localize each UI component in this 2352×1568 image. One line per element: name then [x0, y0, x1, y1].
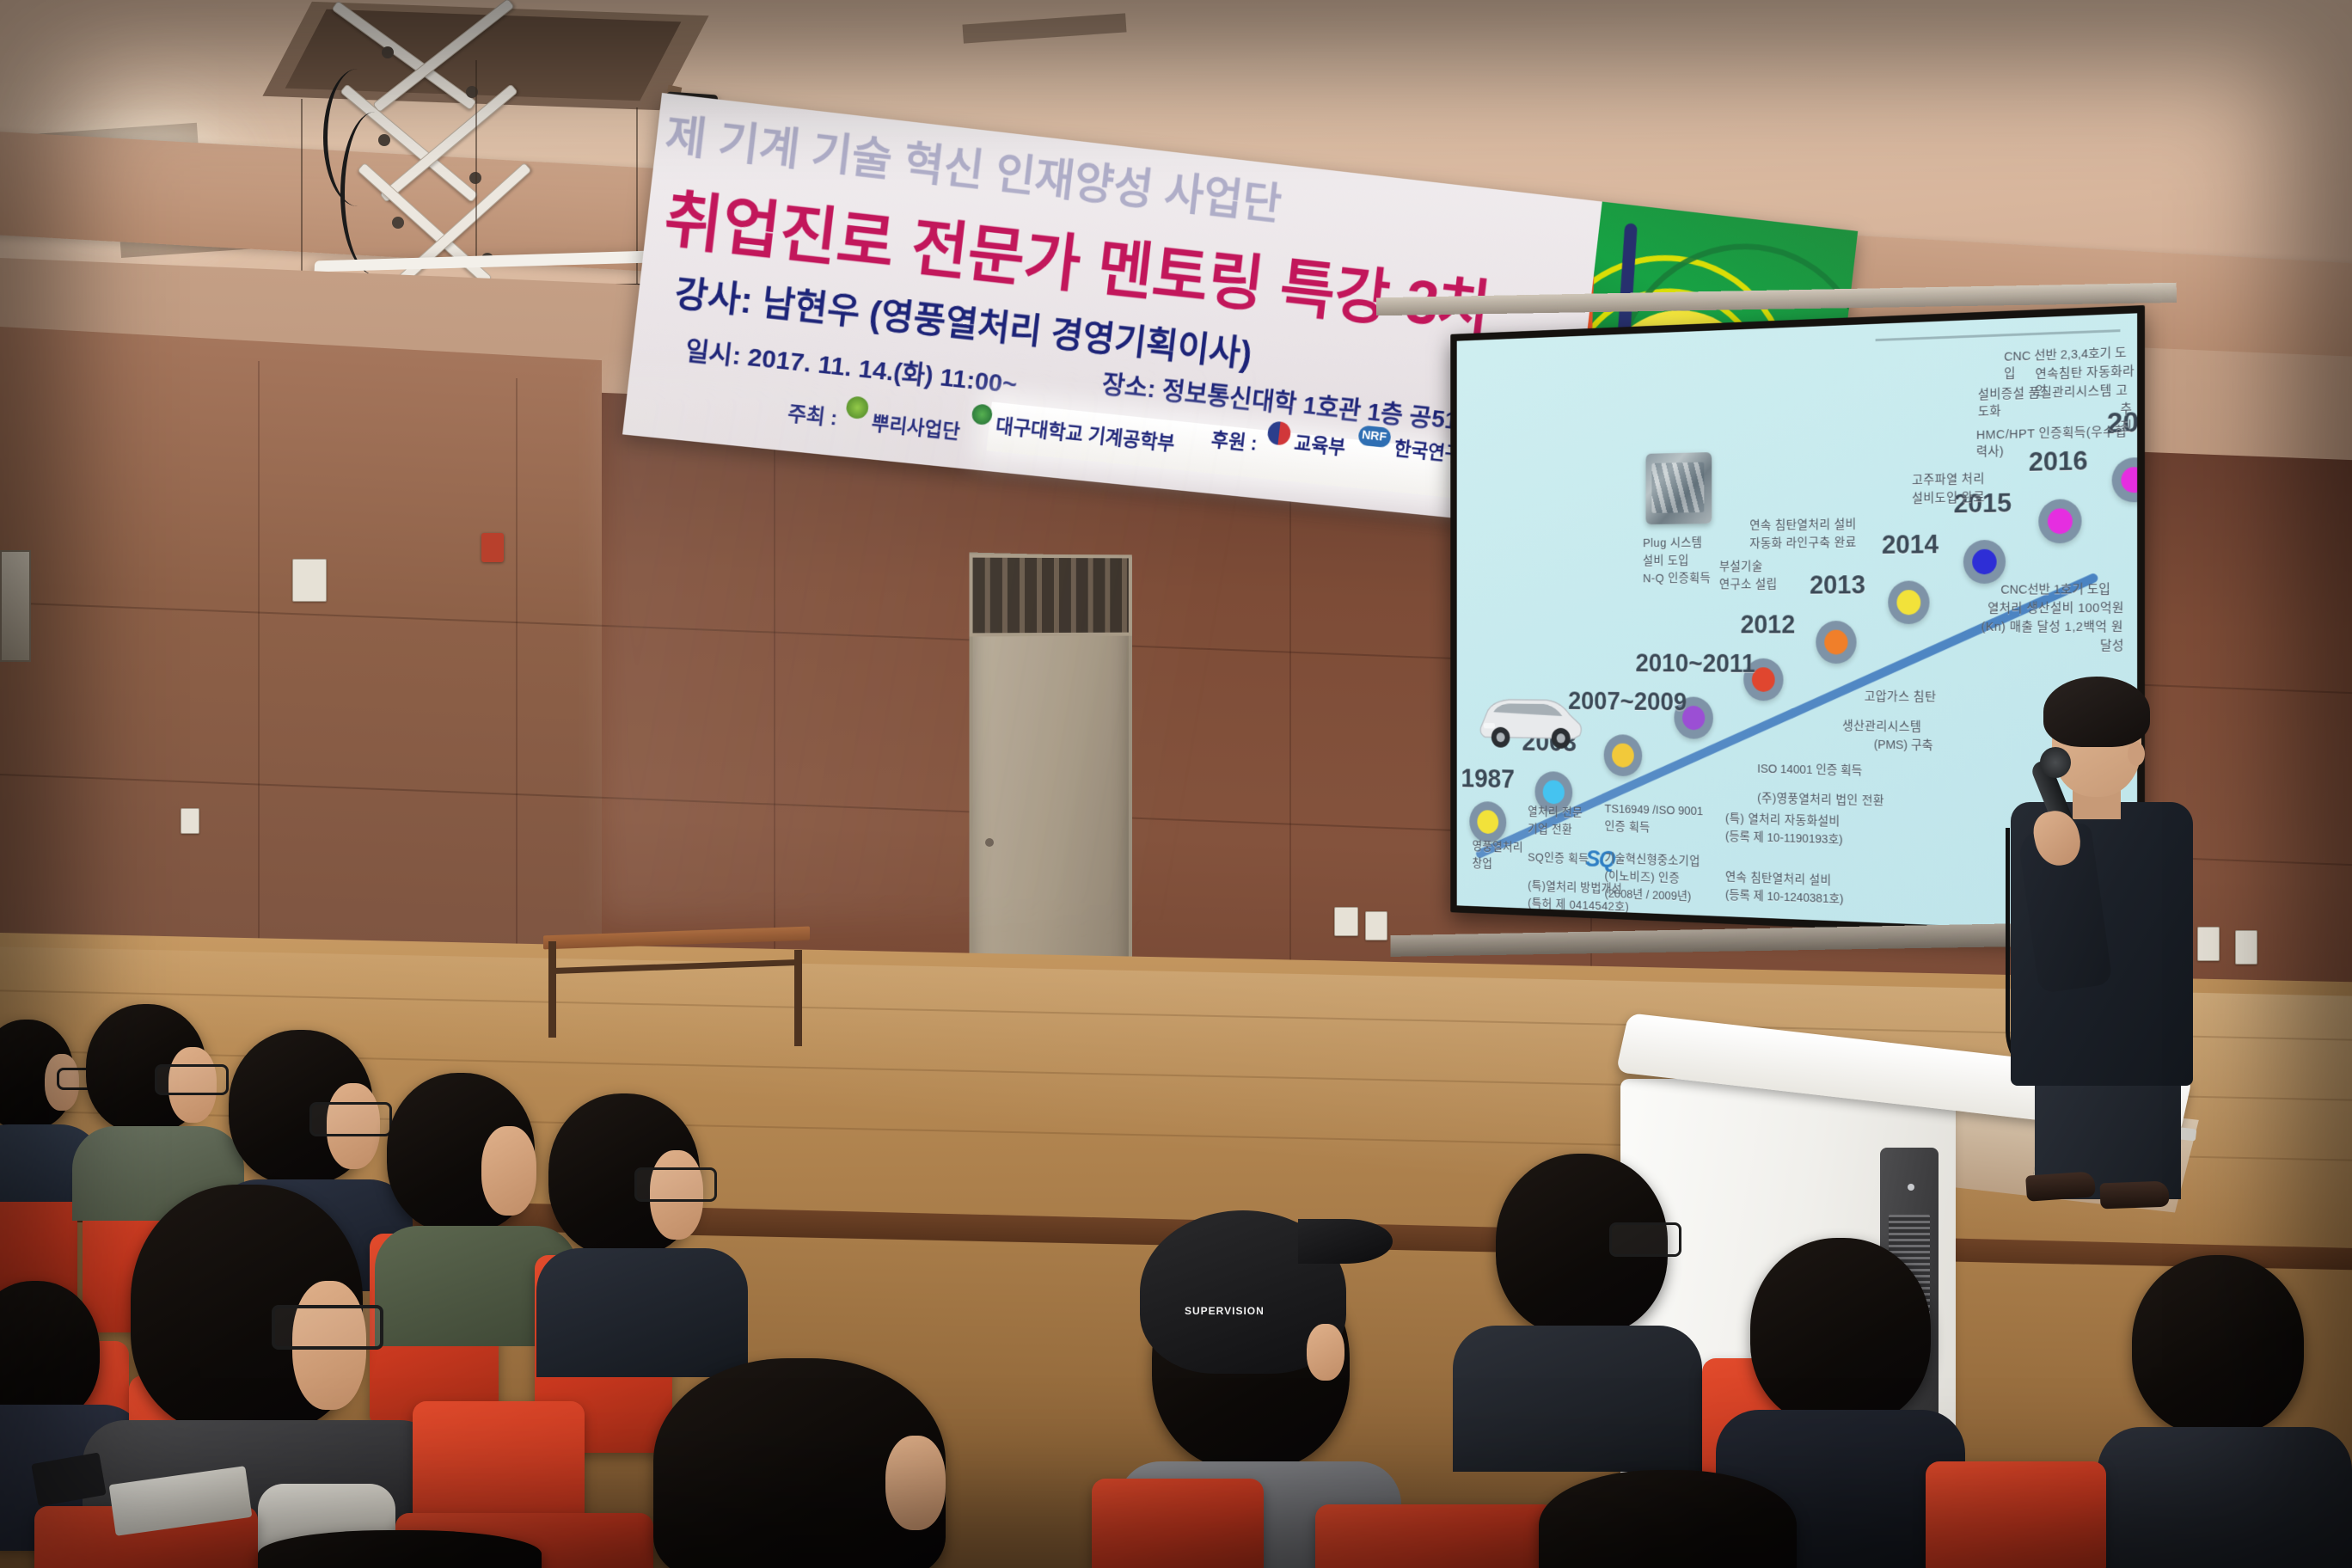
lecture-hall-photo: 제 기계 기술 혁신 인재양성 사업단 취업진로 전문가 멘토링 특강 3차 강…: [0, 0, 2352, 1568]
note-2014-b: (PMS) 구축: [1874, 737, 1933, 755]
presenter-ear: [2128, 742, 2145, 766]
wall-switch-plate[interactable]: [181, 808, 199, 834]
presenter-shoe-right: [2100, 1181, 2170, 1210]
presenter: [1990, 658, 2231, 1208]
door-louver-transom: [969, 554, 1131, 637]
note-2010-photo-caption-a: Plug 시스템: [1643, 535, 1702, 552]
timeline-year-2012: 2012: [1741, 609, 1796, 640]
note-2012-b: 자동화 라인구축 완료: [1749, 535, 1856, 553]
seat[interactable]: [1092, 1479, 1264, 1568]
fire-alarm-icon: [481, 533, 504, 562]
note-2010-photo-caption-c: N-Q 인증획득: [1643, 571, 1711, 587]
timeline-year-2014: 2014: [1882, 529, 1939, 560]
timeline-year-2013: 2013: [1810, 569, 1865, 600]
podium-power-led-icon: [1908, 1184, 1914, 1191]
seat[interactable]: [1926, 1461, 2106, 1568]
banner-host-label: 주최 :: [787, 396, 839, 431]
note-2015-b: 설비도입 완료: [1912, 489, 1985, 507]
note-2013-c: ISO 14001 인증 획득: [1757, 761, 1862, 780]
note-2013-b: (등록 제 10-1240381호): [1725, 887, 1844, 909]
note-2007-d: (이노비즈) 인증: [1605, 868, 1680, 887]
note-2012-d: 연구소 설립: [1719, 577, 1778, 594]
note-2014-c: 고압가스 침탄: [1865, 689, 1937, 706]
banner-sponsor-org1: 교육부: [1293, 426, 1347, 460]
wall-panel-plate: [292, 559, 327, 602]
note-2007-c: 기술혁신형중소기업: [1605, 851, 1700, 871]
timeline-node-2014: [1888, 580, 1929, 624]
note-2012-e: (특) 열처리 자동화설비: [1725, 811, 1840, 830]
wall-notice: [0, 550, 31, 662]
note-2007-e: (2008년 / 2009년): [1605, 886, 1692, 906]
note-2013-a: 연속 침탄열처리 설비: [1725, 869, 1832, 890]
note-2007-b: 인증 획득: [1605, 819, 1651, 836]
timeline-node-2016: [2038, 499, 2081, 543]
seat[interactable]: [1315, 1504, 1556, 1568]
note-2007-a: TS16949 /ISO 9001: [1605, 801, 1704, 820]
timeline-node-2015: [1963, 540, 2006, 584]
presenter-hair: [2043, 677, 2150, 747]
timeline-node-1987: [1469, 801, 1506, 843]
wall-outlet[interactable]: [1334, 907, 1358, 936]
note-2015-a: 고주파열 처리: [1912, 471, 1985, 489]
presenter-shoe-left: [2025, 1171, 2096, 1202]
timeline-node-2007: [1604, 734, 1643, 776]
note-2010-photo-caption-b: 설비 도입: [1643, 553, 1689, 569]
note-2012-c: 부설기술: [1719, 559, 1763, 576]
factory-photo-thumbnail: [1646, 452, 1712, 524]
audience: SUPERVISION: [0, 997, 1633, 1568]
note-2003-c: SQ인증 획득: [1528, 850, 1589, 868]
note-2012-f: (등록 제 10-1190193호): [1725, 829, 1843, 848]
left-wall-wood: [0, 327, 602, 1014]
banner-sponsor-label: 후원 :: [1210, 423, 1259, 456]
cap-logo-text: SUPERVISION: [1185, 1305, 1265, 1317]
timeline-node-2017: [2112, 457, 2137, 503]
note-2003-b: 기업 전환: [1528, 822, 1572, 839]
table-rail: [550, 959, 801, 974]
slide-top-rule: [1876, 329, 2121, 341]
timeline-year-2010: 2010~2011: [1635, 648, 1755, 679]
note-2012-a: 연속 침탄열처리 설비: [1749, 517, 1856, 535]
note-2017-f: 열처리 생산설비 100억원: [1988, 600, 2124, 617]
note-2017-c: 설비증설 품질관리시스템 고도화: [1978, 382, 2137, 421]
note-2017-h: 달성: [2100, 638, 2124, 655]
wall-outlet[interactable]: [1365, 911, 1387, 940]
projector-scissor-lift: [318, 34, 602, 275]
note-2013-d: (주)영풍열처리 법인 전환: [1757, 791, 1884, 811]
timeline-year-1987: 1987: [1461, 763, 1515, 795]
timeline-node-2013: [1816, 621, 1856, 664]
note-2017-e: CNC선반 1호기 도입: [2000, 581, 2110, 599]
banner-sponsor-badge: NRF: [1361, 428, 1387, 444]
note-2003-a: 열처리 전문: [1528, 804, 1583, 821]
note-2017-g: (Kn) 매출 달성 1,2백억 원: [1981, 619, 2123, 636]
note-2017-d: 추진: [2120, 401, 2137, 436]
car-illustration: [1473, 679, 1587, 753]
note-2014-a: 생산관리시스템: [1842, 718, 1921, 736]
note-2016-a: HMC/HPT 인증획득(우수협력사): [1976, 423, 2137, 462]
door-knob[interactable]: [985, 838, 994, 847]
wall-outlet[interactable]: [2235, 930, 2257, 965]
